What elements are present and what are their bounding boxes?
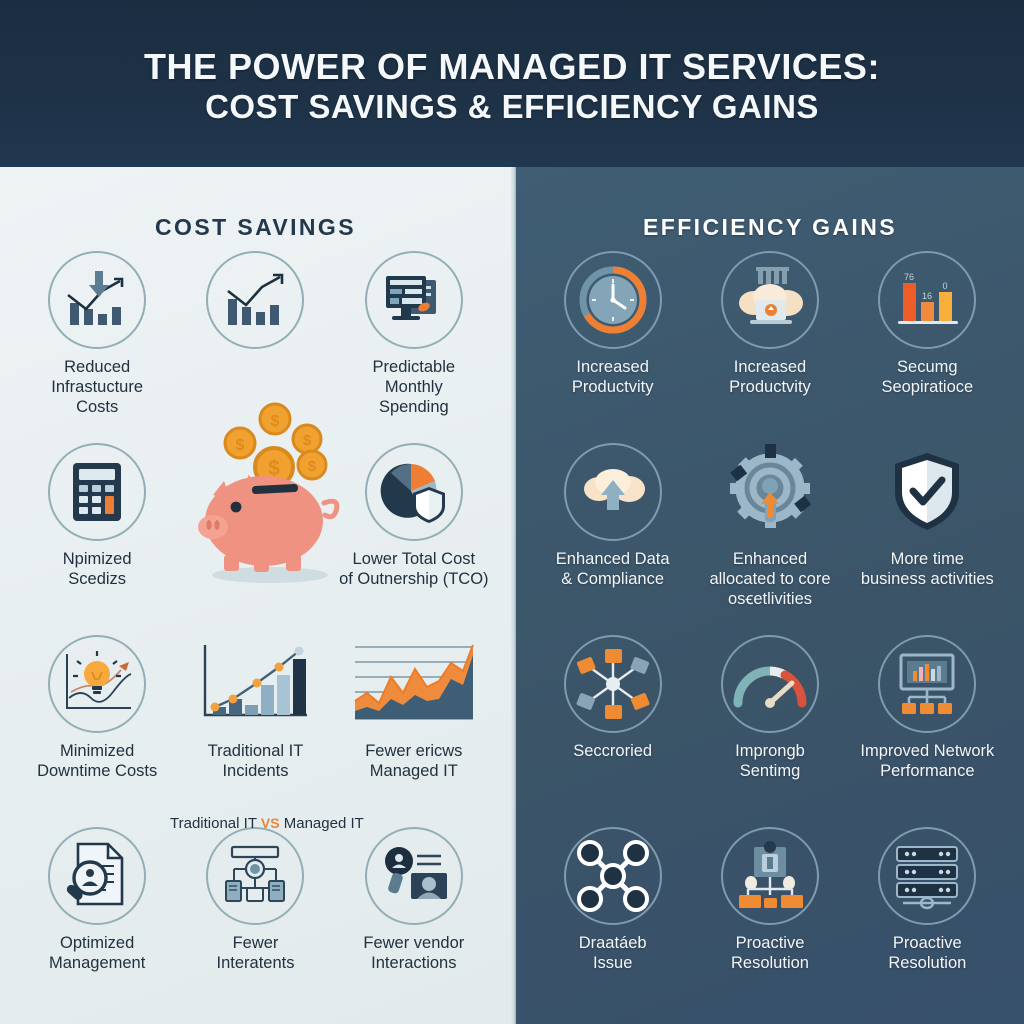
tile-label: Seccroried bbox=[573, 742, 652, 762]
area-chart-icon bbox=[365, 635, 463, 733]
tile-label: Minimized Downtime Costs bbox=[37, 742, 157, 782]
tile-traditional-it-incidents[interactable]: Traditional IT Incidents bbox=[176, 635, 334, 825]
pie-chart-shield-icon bbox=[365, 443, 463, 541]
panel-efficiency-gains: EFFICIENCY GAINS bbox=[516, 167, 1024, 1024]
page-title-line-2: COST SAVINGS & EFFICIENCY GAINS bbox=[205, 88, 819, 127]
monitor-invoice-icon bbox=[365, 251, 463, 349]
tile-label: Increased Productvity bbox=[572, 358, 654, 398]
tile-label: Draatáeb Issue bbox=[579, 934, 647, 974]
tile-increased-productivity-cloud[interactable]: Increased Productvity bbox=[691, 251, 848, 441]
shield-check-icon bbox=[878, 443, 976, 541]
calculator-icon bbox=[48, 443, 146, 541]
tile-improved-sentiment[interactable]: Improngb Sentimg bbox=[691, 635, 848, 825]
cost-savings-heading: COST SAVINGS bbox=[0, 214, 511, 241]
tile-label: Fewer Interatents bbox=[217, 934, 295, 974]
tile-fewer-incidents[interactable]: Fewer Interatents bbox=[176, 827, 334, 1017]
magnifier-video-call-icon bbox=[365, 827, 463, 925]
tile-label: Predictable Monthly Spending bbox=[373, 358, 456, 417]
tile-label: Lower Total Cost of Outnership (TCO) bbox=[339, 550, 488, 590]
tile-minimized-downtime-costs[interactable]: Minimized Downtime Costs bbox=[18, 635, 176, 825]
tile-label: Proactive Resolution bbox=[731, 934, 809, 974]
panel-cost-savings: COST SAVINGS bbox=[0, 167, 511, 1024]
tile-enhanced-data-compliance[interactable]: Enhanced Data & Compliance bbox=[534, 443, 691, 633]
gear-person-arrow-icon bbox=[721, 443, 819, 541]
tile-label: Secumg Seopiratioce bbox=[881, 358, 973, 398]
tile-secured-network[interactable]: Seccroried bbox=[534, 635, 691, 825]
tile-increased-productivity-clock[interactable]: Increased Productvity bbox=[534, 251, 691, 441]
database-cluster-icon bbox=[564, 827, 662, 925]
tile-label: Optimized Management bbox=[49, 934, 145, 974]
tile-label: Reduced Infrastucture Costs bbox=[51, 358, 143, 417]
tile-improved-network-performance[interactable]: Improved Network Performance bbox=[849, 635, 1006, 825]
tile-optimized-management[interactable]: Optimized Management bbox=[18, 827, 176, 1017]
tile-label: Traditional IT Incidents bbox=[208, 742, 304, 782]
tile-predictable-monthly-spending[interactable]: Predictable Monthly Spending bbox=[335, 251, 493, 441]
infographic-poster: THE POWER OF MANAGED IT SERVICES: COST S… bbox=[0, 0, 1024, 1024]
piggy-bank-placeholder bbox=[206, 443, 304, 541]
tile-lower-tco[interactable]: Lower Total Cost of Outnership (TCO) bbox=[335, 443, 493, 633]
tile-optimized-schedules[interactable]: Npimized Scedizs bbox=[18, 443, 176, 633]
cost-savings-grid: Reduced Infrastucture Costs bbox=[0, 251, 511, 1017]
server-rack-icon bbox=[878, 827, 976, 925]
tile-proactive-resolution-server[interactable]: Proactive Resolution bbox=[849, 827, 1006, 1017]
bar-chart-trend-arrow-icon bbox=[206, 251, 304, 349]
tile-database-issue[interactable]: Draatáeb Issue bbox=[534, 827, 691, 1017]
comparison-bar-chart-icon bbox=[206, 635, 304, 733]
bar-chart-down-arrow-icon bbox=[48, 251, 146, 349]
cloud-laptop-icon bbox=[721, 251, 819, 349]
tile-core-activities[interactable]: Enhanced allocated to core osꞓetlivities bbox=[691, 443, 848, 633]
tile-cost-trend[interactable] bbox=[176, 251, 334, 441]
lightbulb-line-chart-icon bbox=[48, 635, 146, 733]
tile-piggy-bank-feature bbox=[176, 443, 334, 633]
svg-text:76: 76 bbox=[904, 272, 914, 282]
clock-progress-icon bbox=[564, 251, 662, 349]
svg-text:0: 0 bbox=[943, 281, 948, 291]
tile-fewer-vendor-interactions[interactable]: Fewer vendor Interactions bbox=[335, 827, 493, 1017]
tile-label: Enhanced Data & Compliance bbox=[556, 550, 670, 590]
svg-text:16: 16 bbox=[922, 291, 932, 301]
tile-reduced-infrastructure-costs[interactable]: Reduced Infrastucture Costs bbox=[18, 251, 176, 441]
org-chart-servers-icon bbox=[206, 827, 304, 925]
tile-label: More time business activities bbox=[861, 550, 994, 590]
tile-label: Fewer ericws Managed IT bbox=[365, 742, 462, 782]
orange-bar-chart-icon: 76 16 0 bbox=[878, 251, 976, 349]
tile-proactive-resolution-support[interactable]: Proactive Resolution bbox=[691, 827, 848, 1017]
tile-label: Enhanced allocated to core osꞓetlivities bbox=[709, 550, 830, 609]
page-title-line-1: THE POWER OF MANAGED IT SERVICES: bbox=[144, 46, 880, 88]
caption-managed: Managed IT bbox=[284, 815, 364, 832]
tile-label: Increased Productvity bbox=[729, 358, 811, 398]
tile-label: Npimized Scedizs bbox=[63, 550, 132, 590]
tile-label: Fewer vendor Interactions bbox=[363, 934, 464, 974]
tile-label: Improngb Sentimg bbox=[735, 742, 805, 782]
document-magnifier-icon bbox=[48, 827, 146, 925]
panels-container: COST SAVINGS bbox=[0, 167, 1024, 1024]
laptop-dashboard-icon bbox=[878, 635, 976, 733]
tile-more-time-business[interactable]: More time business activities bbox=[849, 443, 1006, 633]
efficiency-gains-heading: EFFICIENCY GAINS bbox=[516, 214, 1024, 241]
poster-header: THE POWER OF MANAGED IT SERVICES: COST S… bbox=[0, 0, 1024, 167]
tile-fewer-errors-managed-it[interactable]: Fewer ericws Managed IT bbox=[335, 635, 493, 825]
tile-label: Improved Network Performance bbox=[860, 742, 994, 782]
network-nodes-icon bbox=[564, 635, 662, 733]
cloud-upload-icon bbox=[564, 443, 662, 541]
caption-vs: VS bbox=[261, 815, 280, 831]
efficiency-gains-grid: Increased Productvity bbox=[516, 251, 1024, 1017]
gauge-speedometer-icon bbox=[721, 635, 819, 733]
tile-secure-performance[interactable]: 76 16 0 Secumg Seopiratioce bbox=[849, 251, 1006, 441]
comparison-caption: Traditional IT VS Managed IT bbox=[170, 815, 364, 832]
caption-traditional: Traditional IT bbox=[170, 815, 257, 832]
support-agent-flow-icon bbox=[721, 827, 819, 925]
tile-label: Proactive Resolution bbox=[888, 934, 966, 974]
